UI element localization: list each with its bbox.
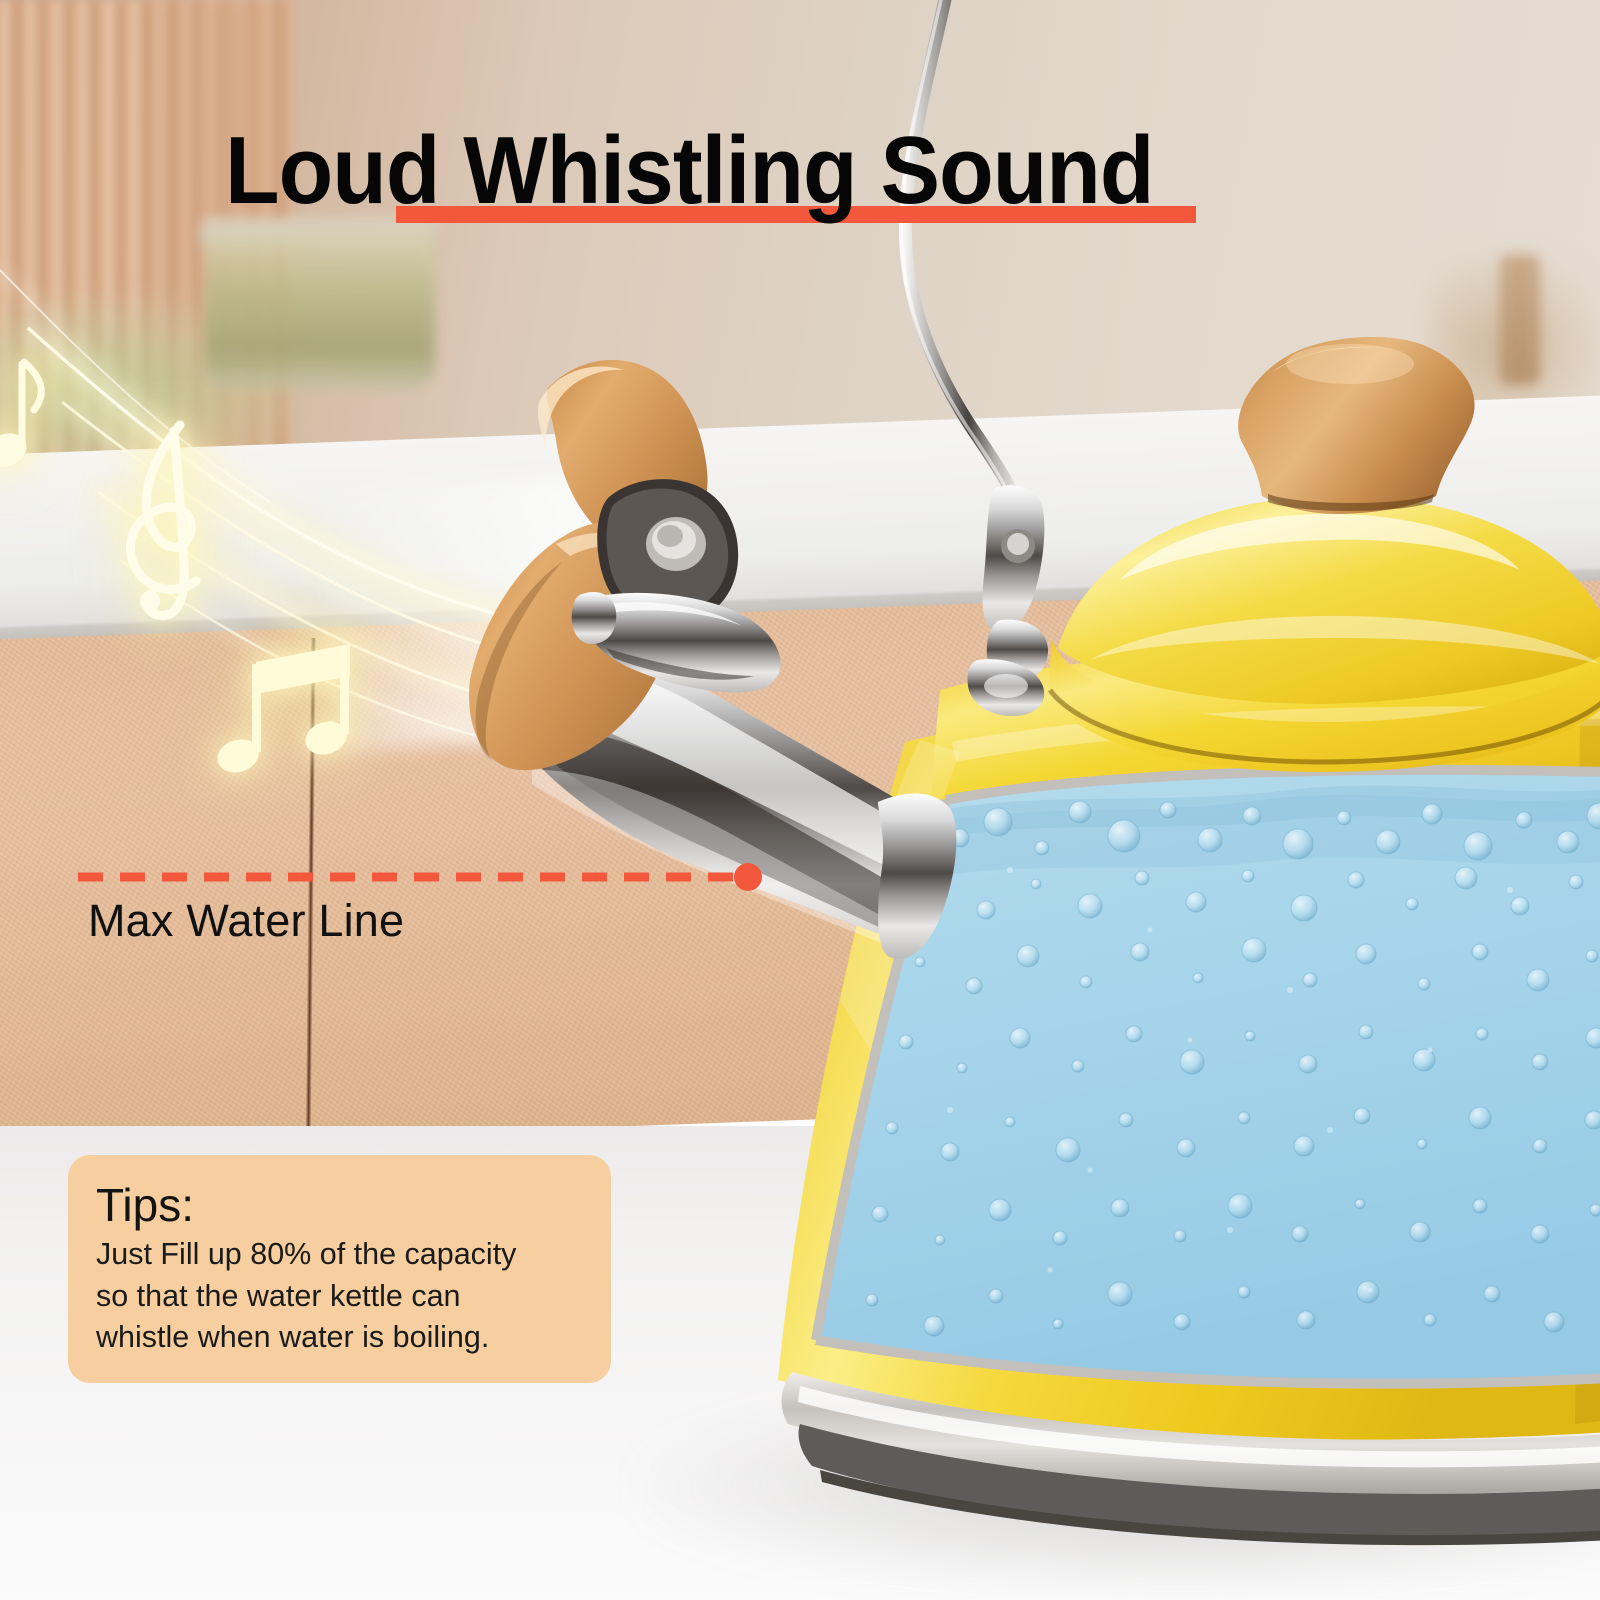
- max-water-line-label: Max Water Line: [88, 895, 404, 947]
- tips-callout-box: Tips: Just Fill up 80% of the capacity s…: [68, 1155, 611, 1383]
- product-marketing-image: Loud Whistling Sound Max Water Line Tips…: [0, 0, 1600, 1600]
- cabinet-texture: [0, 580, 1600, 1150]
- cabinet-front: [0, 580, 1600, 1150]
- background-utensil-right: [1500, 255, 1540, 385]
- tips-title: Tips:: [96, 1181, 611, 1229]
- tips-body-text: Just Fill up 80% of the capacity so that…: [96, 1234, 611, 1358]
- page-title: Loud Whistling Sound: [225, 123, 1154, 219]
- glass-jar: [205, 230, 435, 390]
- kettle-shadow: [640, 1400, 1600, 1590]
